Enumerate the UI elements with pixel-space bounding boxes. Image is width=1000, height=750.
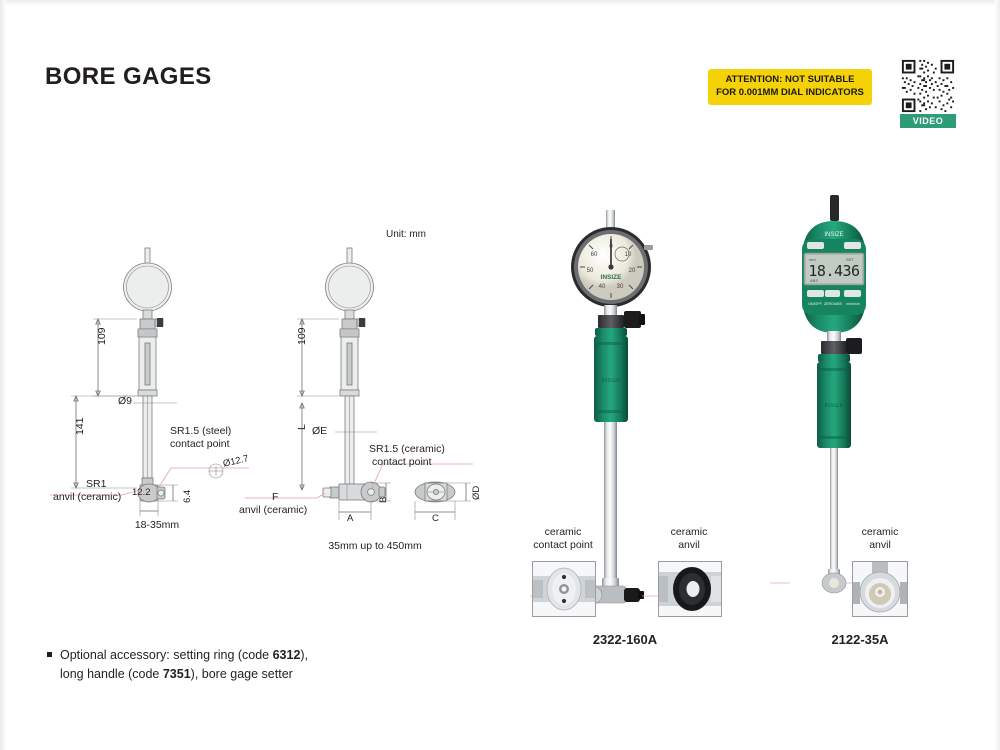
bullet-square-icon [47, 652, 52, 657]
dim-141-small: 141 [74, 417, 86, 435]
callout-cp-line2: contact point [508, 539, 618, 552]
callout-anvil-line1: ceramic [646, 526, 732, 539]
video-qr-block[interactable]: VIDEO [900, 58, 956, 128]
ceramic-anvil-photo-digital [853, 562, 907, 616]
attention-badge: ATTENTION: NOT SUITABLE FOR 0.001MM DIAL… [708, 69, 872, 105]
svg-text:ON/OFF: ON/OFF [808, 302, 822, 306]
dim-12-2: 12.2 [132, 487, 151, 498]
accessory-line-1: Optional accessory: setting ring (code 6… [47, 646, 308, 665]
callout-anvil2-line1: ceramic [840, 526, 920, 539]
inset-ceramic-anvil-digital [852, 561, 908, 617]
attention-line-1: ATTENTION: NOT SUITABLE [710, 74, 870, 87]
ceramic-contact-point-photo [533, 562, 595, 616]
dim-diameter-E: ØE [312, 425, 327, 437]
page-edge-top [0, 0, 1000, 5]
dim-6-4: 6.4 [182, 490, 193, 503]
page-edge-right [995, 0, 1000, 750]
accessory-line-2: long handle (code 7351), bore gage sette… [60, 665, 308, 684]
dim-C: C [432, 513, 439, 524]
dim-109-small: 109 [96, 327, 108, 345]
label-anvil-ceramic-large: anvil (ceramic) [239, 504, 307, 516]
dim-F: F [272, 491, 278, 503]
accessory-code-7351: 7351 [163, 667, 191, 681]
range-small: 18-35mm [112, 519, 202, 531]
page-edge-left [0, 0, 6, 750]
qr-code-icon[interactable] [900, 58, 956, 114]
accessory-text-1b: ), [300, 648, 308, 662]
callout-cp-line1: ceramic [508, 526, 618, 539]
accessory-text-1a: Optional accessory: setting ring (code [60, 648, 273, 662]
svg-text:INSIZE: INSIZE [824, 403, 843, 409]
svg-text:INSIZE: INSIZE [601, 378, 620, 384]
label-contact-point-ceramic-line1: SR1.5 (ceramic) [369, 443, 445, 455]
svg-text:20: 20 [629, 268, 636, 274]
catalog-page: BORE GAGES ATTENTION: NOT SUITABLE FOR 0… [0, 0, 1000, 750]
product-code-2122-35A: 2122-35A [790, 632, 930, 647]
inset-ceramic-contact-point [532, 561, 596, 617]
svg-text:INSIZE: INSIZE [824, 232, 843, 238]
product-photo-dial-bore-gage: 01020 304050 60 INSIZE INSIZE [540, 210, 740, 620]
video-label[interactable]: VIDEO [900, 114, 956, 128]
svg-text:ABS: ABS [810, 278, 818, 283]
ceramic-anvil-photo-dial [659, 562, 721, 616]
dim-diameter-D: ØD [471, 486, 482, 500]
label-contact-point-steel-line1: SR1.5 (steel) [170, 425, 231, 437]
svg-text:50: 50 [587, 268, 594, 274]
callout-label-ceramic-contact-point: ceramic contact point [508, 526, 618, 552]
dim-L: L [296, 424, 308, 430]
svg-text:30: 30 [617, 284, 624, 290]
drawing-large-bore-gage [285, 240, 545, 520]
svg-text:60: 60 [591, 252, 598, 258]
product-code-2322-160A: 2322-160A [545, 632, 705, 647]
attention-line-2: FOR 0.001MM DIAL INDICATORS [710, 87, 870, 100]
page-title: BORE GAGES [45, 63, 212, 91]
svg-text:ZERO/ABS: ZERO/ABS [824, 302, 843, 306]
callout-anvil2-line2: anvil [840, 539, 920, 552]
callout-label-ceramic-anvil-dial: ceramic anvil [646, 526, 732, 552]
dim-109-large: 109 [296, 327, 308, 345]
svg-text:INSIZE: INSIZE [601, 274, 623, 281]
dim-B: B [378, 497, 389, 503]
unit-note: Unit: mm [386, 229, 426, 240]
callout-anvil-line2: anvil [646, 539, 732, 552]
dim-A: A [347, 513, 353, 524]
label-contact-point-ceramic-line2: contact point [372, 456, 432, 468]
svg-text:40: 40 [599, 284, 606, 290]
range-large: 35mm up to 450mm [295, 540, 455, 552]
label-anvil-sr1: SR1 [86, 478, 106, 490]
label-contact-point-steel-line2: contact point [170, 438, 230, 450]
product-photo-digital-bore-gage: INSIZE mmSET 18.436 ABS ON/OFFZERO/ABSmm… [790, 195, 960, 620]
accessory-code-6312: 6312 [273, 648, 301, 662]
optional-accessory-note: Optional accessory: setting ring (code 6… [47, 646, 308, 684]
callout-label-ceramic-anvil-digital: ceramic anvil [840, 526, 920, 552]
svg-text:mm/inch: mm/inch [846, 302, 860, 306]
drawing-small-bore-gage [45, 240, 285, 520]
accessory-text-2b: ), bore gage setter [191, 667, 293, 681]
label-anvil-ceramic-small: anvil (ceramic) [53, 491, 121, 503]
dim-diameter-9: Ø9 [118, 395, 132, 407]
inset-ceramic-anvil-dial [658, 561, 722, 617]
accessory-text-2a: long handle (code [60, 667, 163, 681]
